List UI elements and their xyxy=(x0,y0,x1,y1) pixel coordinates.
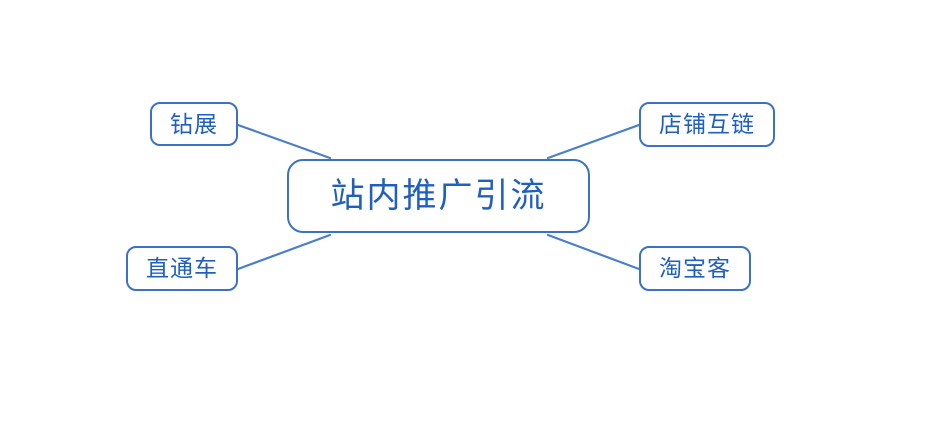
node-center[interactable]: 站内推广引流 xyxy=(287,159,590,233)
node-zuanzhan-label: 钻展 xyxy=(170,113,218,136)
node-zhitongche[interactable]: 直通车 xyxy=(126,246,238,291)
node-zuanzhan[interactable]: 钻展 xyxy=(150,102,238,146)
node-dianpuhulian-label: 店铺互链 xyxy=(659,113,755,136)
mindmap-canvas: 站内推广引流 钻展 店铺互链 直通车 淘宝客 xyxy=(0,0,931,423)
connector-center-dianpuhulian xyxy=(548,125,639,158)
connector-center-taobaoke xyxy=(548,235,639,269)
node-zhitongche-label: 直通车 xyxy=(146,257,218,280)
node-taobaoke[interactable]: 淘宝客 xyxy=(639,246,751,291)
connector-center-zuanzhan xyxy=(238,125,330,158)
node-taobaoke-label: 淘宝客 xyxy=(659,257,731,280)
node-center-label: 站内推广引流 xyxy=(331,179,547,213)
connector-center-zhitongche xyxy=(238,235,330,269)
node-dianpuhulian[interactable]: 店铺互链 xyxy=(639,102,775,147)
